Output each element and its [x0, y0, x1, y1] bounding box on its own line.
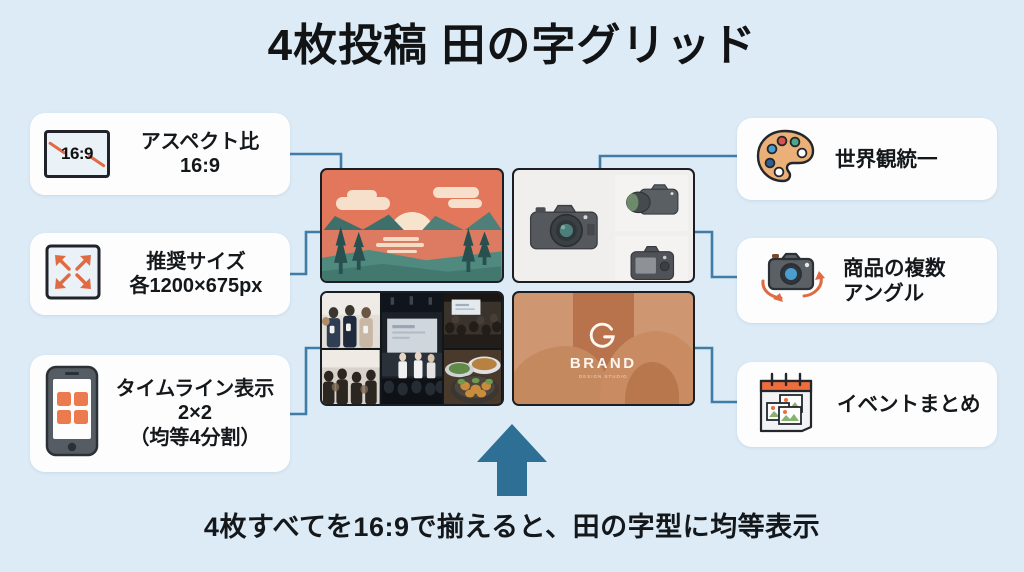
grid-tile-sunset-landscape[interactable] — [320, 168, 504, 283]
expand-arrows-icon — [44, 244, 102, 305]
event-photo-stage-presentation — [382, 293, 442, 404]
info-card-event-roundup-label: イベントまとめ — [837, 392, 987, 417]
info-card-aspect-ratio-label: アスペクト比 16:9 — [120, 130, 280, 179]
event-photo-catering — [444, 350, 502, 405]
brand-name-text: BRAND — [570, 355, 637, 372]
event-photo-reception — [322, 350, 380, 405]
info-card-recommended-size[interactable]: 推奨サイズ 各1200×675px — [30, 233, 290, 315]
smartphone-grid-icon — [44, 365, 100, 462]
brand-subtitle-text: DESIGN STUDIO — [579, 374, 628, 379]
info-card-timeline-label: タイムライン表示 2×2 （均等4分割） — [110, 377, 280, 450]
camera-rotate-icon — [755, 247, 829, 314]
event-photo-audience — [444, 293, 502, 348]
info-card-aspect-ratio[interactable]: 16:9 アスペクト比 16:9 — [30, 113, 290, 195]
camera-front-view — [519, 175, 610, 276]
calendar-photos-icon — [755, 371, 823, 438]
aspect-ratio-icon-text: 16:9 — [61, 144, 93, 164]
info-card-timeline[interactable]: タイムライン表示 2×2 （均等4分割） — [30, 355, 290, 472]
brand-logo-icon — [586, 319, 620, 353]
info-card-world-view[interactable]: 世界観統一 — [737, 118, 997, 200]
info-card-world-view-label: 世界観統一 — [835, 147, 987, 172]
page-title: 4枚投稿 田の字グリッド — [0, 22, 1024, 70]
info-card-event-roundup[interactable]: イベントまとめ — [737, 362, 997, 447]
info-card-recommended-size-label: 推奨サイズ 各1200×675px — [112, 250, 280, 299]
photo-grid: BRAND DESIGN STUDIO — [320, 168, 695, 406]
info-card-multiple-angles[interactable]: 商品の複数 アングル — [737, 238, 997, 323]
info-card-multiple-angles-label: 商品の複数 アングル — [843, 256, 987, 306]
up-arrow-icon — [473, 420, 551, 498]
camera-back-view — [615, 236, 688, 283]
infographic-canvas: 4枚投稿 田の字グリッド 16:9 アスペクト比 16:9 — [0, 0, 1024, 572]
camera-angle-view — [615, 175, 688, 231]
grid-tile-product-camera[interactable] — [512, 168, 696, 283]
grid-tile-brand-visual[interactable]: BRAND DESIGN STUDIO — [512, 291, 696, 406]
event-photo-networking — [322, 293, 380, 348]
footer-caption: 4枚すべてを16:9で揃えると、田の字型に均等表示 — [0, 505, 1024, 544]
grid-tile-event-collage[interactable] — [320, 291, 504, 406]
aspect-ratio-icon: 16:9 — [44, 130, 110, 178]
palette-icon — [755, 128, 821, 191]
